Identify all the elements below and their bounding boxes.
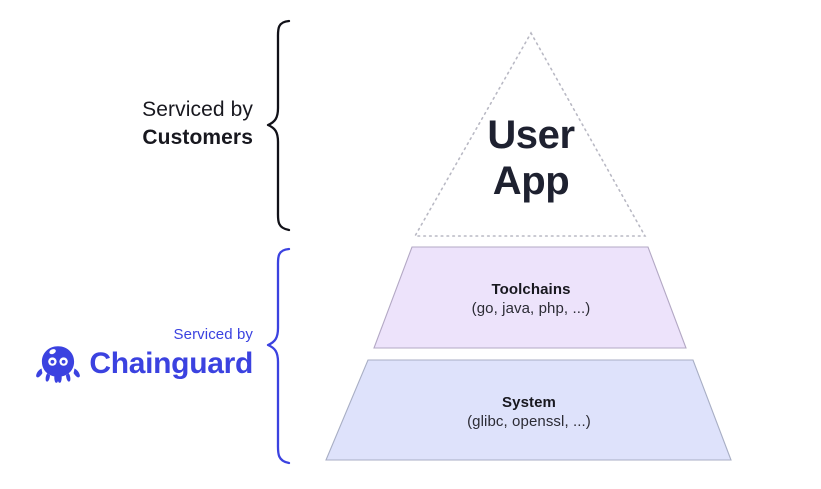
customers-serviced-by-text: Serviced by [18,96,253,124]
chainguard-logo-row: Chainguard [18,344,253,384]
customers-owner-text: Customers [18,124,253,152]
chainguard-serviced-by-text: Serviced by [18,326,253,343]
tier-shape-toolchains [374,247,686,348]
bracket-label-chainguard: Serviced by [18,326,253,384]
diagram-canvas: Serviced by Customers Serviced by [0,0,821,489]
chainguard-octopus-logo [35,344,81,384]
bracket-chainguard [268,249,289,463]
tier-shape-user-app [415,33,645,236]
pyramid-shapes [0,0,821,489]
tier-shape-system [326,360,731,460]
chainguard-wordmark: Chainguard [89,349,253,379]
bracket-label-customers: Serviced by Customers [18,96,253,151]
bracket-customers [268,21,289,230]
